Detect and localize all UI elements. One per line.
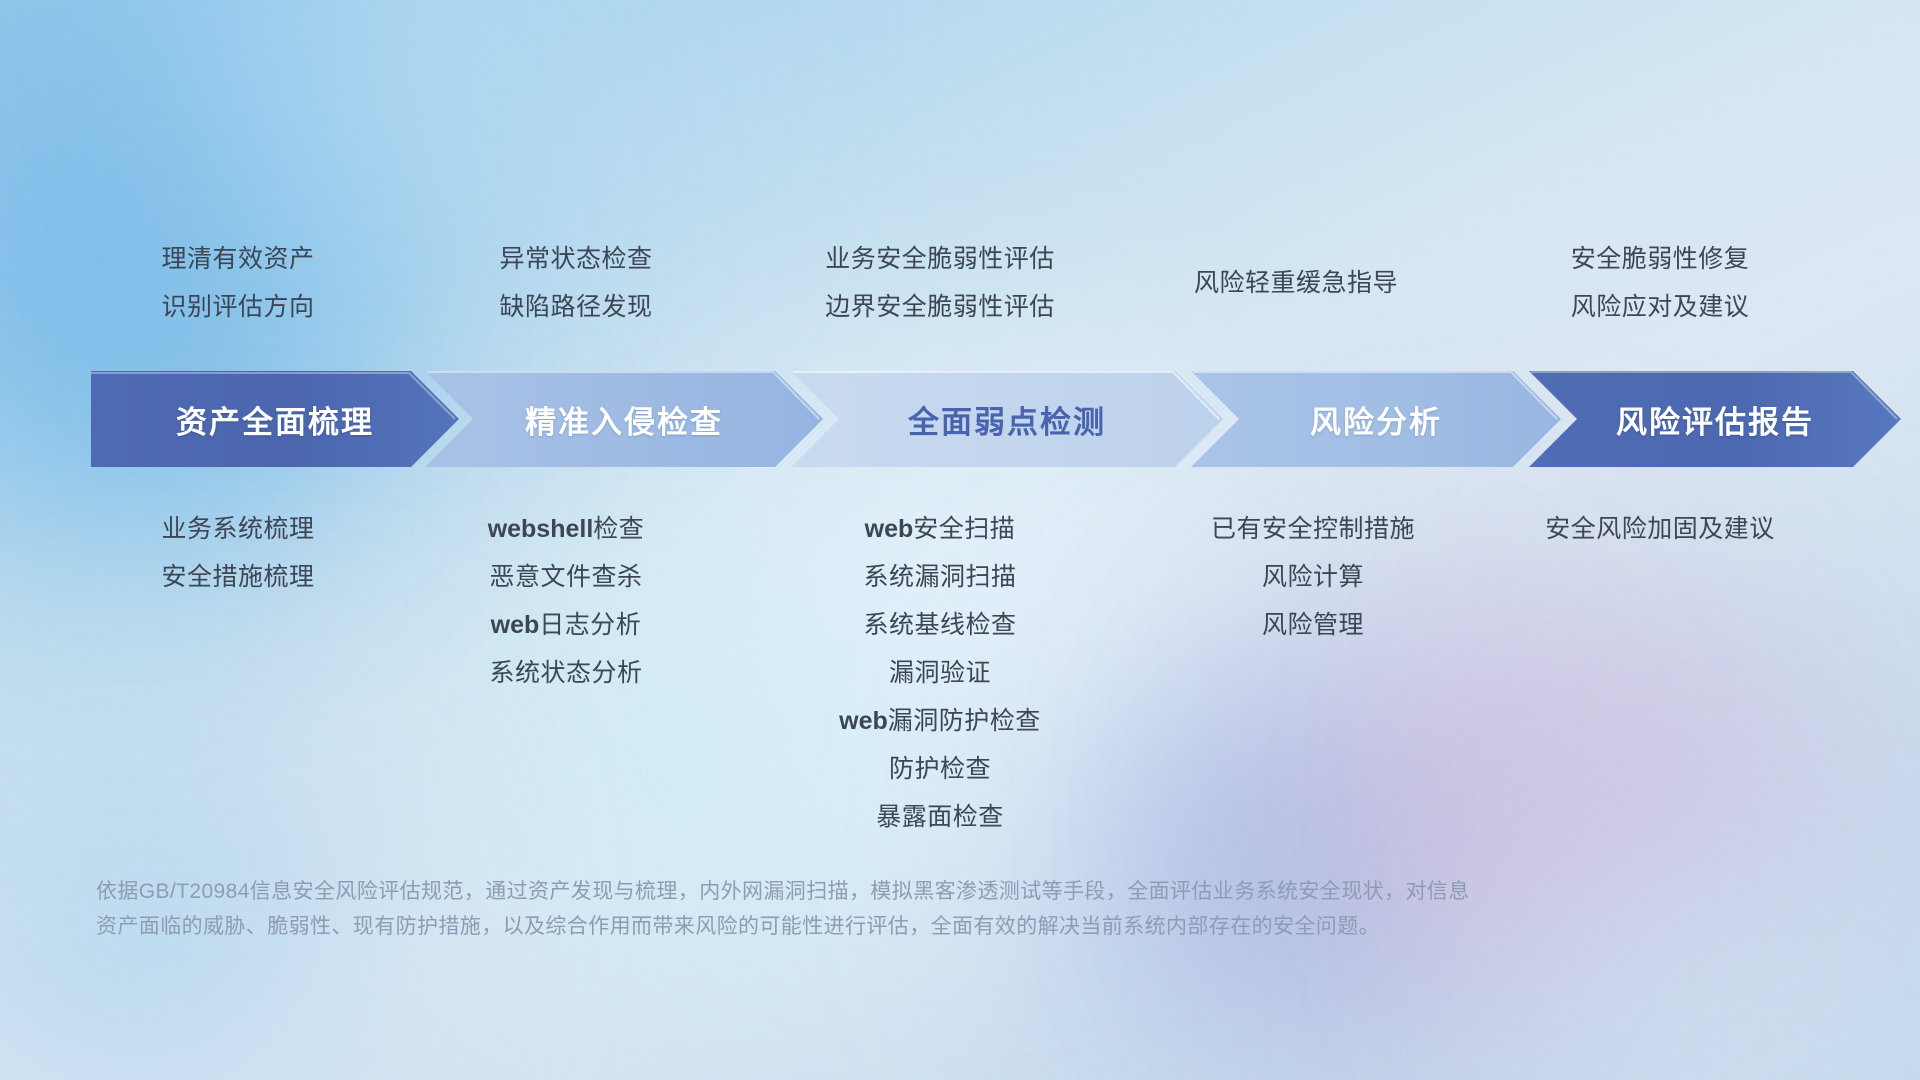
process-chevron-band: 资产全面梳理 精准入侵检查 bbox=[91, 371, 1851, 467]
cjk-suffix: 检查 bbox=[593, 515, 644, 543]
cjk-suffix: 漏洞防护检查 bbox=[888, 707, 1041, 735]
cjk-suffix: 日志分析 bbox=[539, 611, 641, 639]
top-item: 风险应对及建议 bbox=[1440, 283, 1880, 331]
chevron-step-2[interactable]: 精准入侵检查 bbox=[425, 371, 823, 467]
chevron-label: 精准入侵检查 bbox=[525, 397, 723, 442]
latin-prefix: web bbox=[491, 611, 540, 639]
footer-description: 依据GB/T20984信息安全风险评估规范，通过资产发现与梳理，内外网漏洞扫描，… bbox=[96, 874, 1736, 944]
latin-prefix: web bbox=[839, 707, 888, 735]
chevron-step-1[interactable]: 资产全面梳理 bbox=[91, 371, 459, 467]
process-diagram: 理清有效资产 识别评估方向 异常状态检查 缺陷路径发现 业务安全脆弱性评估 边界… bbox=[0, 0, 1920, 1080]
chevron-label: 全面弱点检测 bbox=[908, 397, 1106, 442]
top-item: 安全脆弱性修复 bbox=[1440, 235, 1880, 283]
bottom-items-column-5: 安全风险加固及建议 bbox=[1420, 505, 1900, 553]
bottom-item: 风险计算 bbox=[1093, 553, 1533, 601]
bottom-item: 风险管理 bbox=[1093, 601, 1533, 649]
latin-prefix: webshell bbox=[488, 515, 594, 543]
bottom-item: 防护检查 bbox=[710, 745, 1170, 793]
bottom-item: 暴露面检查 bbox=[710, 793, 1170, 841]
chevron-step-3[interactable]: 全面弱点检测 bbox=[791, 371, 1223, 467]
chevron-label: 风险分析 bbox=[1310, 397, 1442, 442]
bottom-item: 漏洞验证 bbox=[710, 649, 1170, 697]
chevron-label: 资产全面梳理 bbox=[176, 397, 374, 442]
chevron-step-5[interactable]: 风险评估报告 bbox=[1529, 371, 1901, 467]
top-items-column-5: 安全脆弱性修复 风险应对及建议 bbox=[1440, 235, 1880, 331]
cjk-suffix: 安全扫描 bbox=[913, 515, 1015, 543]
chevron-label: 风险评估报告 bbox=[1616, 397, 1814, 442]
latin-prefix: web bbox=[865, 515, 914, 543]
chevron-step-4[interactable]: 风险分析 bbox=[1191, 371, 1561, 467]
bottom-item: 安全风险加固及建议 bbox=[1420, 505, 1900, 553]
bottom-item: web漏洞防护检查 bbox=[710, 697, 1170, 745]
footer-line-2: 资产面临的威胁、脆弱性、现有防护措施，以及综合作用而带来风险的可能性进行评估，全… bbox=[96, 909, 1736, 944]
footer-line-1: 依据GB/T20984信息安全风险评估规范，通过资产发现与梳理，内外网漏洞扫描，… bbox=[96, 874, 1736, 909]
